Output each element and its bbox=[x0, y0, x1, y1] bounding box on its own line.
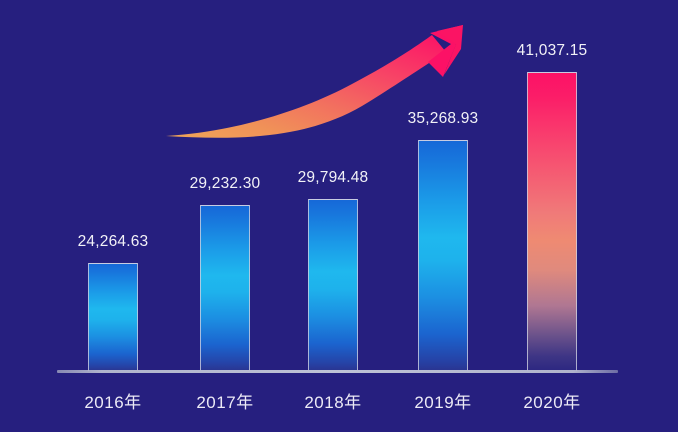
x-axis-tick-label: 2018年 bbox=[278, 388, 388, 413]
bar-group: 24,264.63 bbox=[58, 0, 168, 432]
x-axis-tick-label: 2019年 bbox=[388, 388, 498, 413]
bar-rect[interactable] bbox=[88, 263, 138, 371]
x-axis-tick-label: 2020年 bbox=[497, 388, 607, 413]
bar-rect[interactable] bbox=[308, 199, 358, 371]
bar-value-label: 29,232.30 bbox=[170, 175, 280, 193]
bar-value-label: 29,794.48 bbox=[278, 169, 388, 187]
x-axis-tick-label: 2016年 bbox=[58, 388, 168, 413]
bar-rect[interactable] bbox=[200, 205, 250, 371]
plot-area: 24,264.63 29,232.30 29,794.48 35,268.93 … bbox=[0, 0, 678, 432]
bar-group: 29,794.48 bbox=[278, 0, 388, 432]
bar-value-label: 41,037.15 bbox=[497, 42, 607, 60]
bar-rect[interactable] bbox=[527, 72, 577, 371]
bar-value-label: 24,264.63 bbox=[58, 233, 168, 251]
bar-rect[interactable] bbox=[418, 140, 468, 371]
x-axis-tick-label: 2017年 bbox=[170, 388, 280, 413]
bar-group: 35,268.93 bbox=[388, 0, 498, 432]
bar-group: 41,037.15 bbox=[497, 0, 607, 432]
bar-value-label: 35,268.93 bbox=[388, 110, 498, 128]
bar-group: 29,232.30 bbox=[170, 0, 280, 432]
bar-chart: 24,264.63 29,232.30 29,794.48 35,268.93 … bbox=[0, 0, 678, 432]
x-axis-line bbox=[57, 370, 618, 373]
